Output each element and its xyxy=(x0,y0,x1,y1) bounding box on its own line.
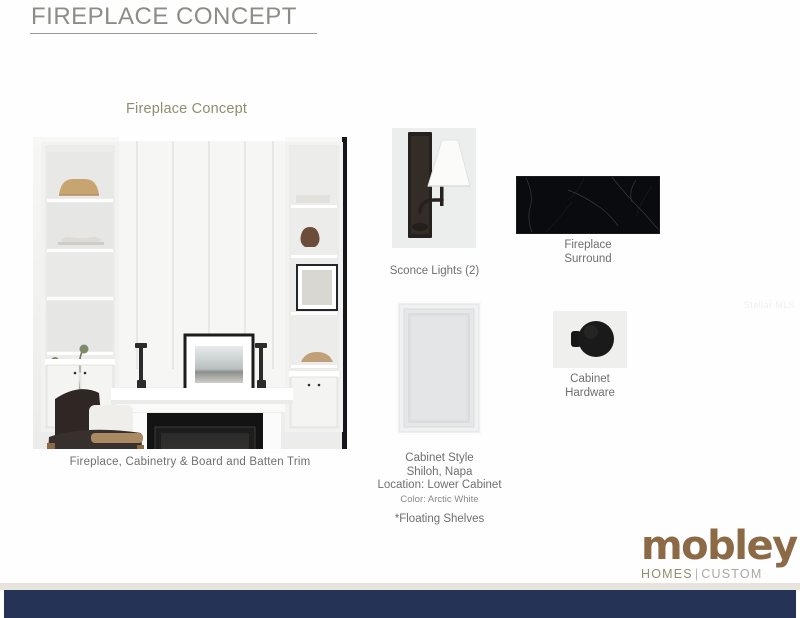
cabinet-caption: Cabinet Style Shiloh, Napa Location: Low… xyxy=(358,452,521,506)
hardware-caption-line2: Hardware xyxy=(530,386,650,400)
cabinet-door-illustration xyxy=(396,301,482,435)
page-title: FIREPLACE CONCEPT xyxy=(31,3,297,31)
black-cabinet-knob-photo xyxy=(553,311,627,368)
presentation-page: FIREPLACE CONCEPT Fireplace Concept xyxy=(0,0,800,618)
logo-tagline-separator: | xyxy=(695,567,699,581)
wall-sconce-photo xyxy=(392,128,476,248)
fireplace-room-illustration xyxy=(33,137,347,449)
cabinet-knob-illustration xyxy=(553,311,627,368)
marble-slab-illustration xyxy=(516,176,660,234)
hardware-caption: Cabinet Hardware xyxy=(530,372,650,400)
surround-caption-line2: Surround xyxy=(528,252,648,266)
footer-strip xyxy=(0,583,800,590)
logo-tagline-custom: CUSTOM xyxy=(701,567,762,581)
surround-caption-line1: Fireplace xyxy=(528,238,648,252)
wall-sconce-illustration xyxy=(392,128,476,248)
floating-shelves-note: *Floating Shelves xyxy=(358,513,521,525)
section-label: Fireplace Concept xyxy=(126,101,247,117)
cabinet-caption-line2: Shiloh, Napa xyxy=(358,466,521,480)
mobley-logo: mobley HOMES|CUSTOM xyxy=(641,526,791,584)
title-underline-rule xyxy=(30,33,317,34)
cabinet-door-photo xyxy=(396,301,482,435)
footer-bar xyxy=(4,590,796,618)
hardware-caption-line1: Cabinet xyxy=(530,372,650,386)
watermark: Stellar MLS xyxy=(744,300,795,310)
cabinet-caption-color: Color: Arctic White xyxy=(358,493,521,507)
cabinet-caption-line1: Cabinet Style xyxy=(358,452,521,466)
hero-caption: Fireplace, Cabinetry & Board and Batten … xyxy=(33,456,347,468)
fireplace-room-photo xyxy=(33,137,347,449)
cabinet-caption-line3: Location: Lower Cabinet xyxy=(358,479,521,493)
logo-tagline: HOMES|CUSTOM xyxy=(641,567,791,581)
surround-caption: Fireplace Surround xyxy=(528,238,648,266)
logo-wordmark: mobley xyxy=(641,526,791,566)
logo-tagline-homes: HOMES xyxy=(641,567,693,581)
sconce-caption: Sconce Lights (2) xyxy=(372,265,497,277)
black-marble-slab-photo xyxy=(516,176,660,234)
